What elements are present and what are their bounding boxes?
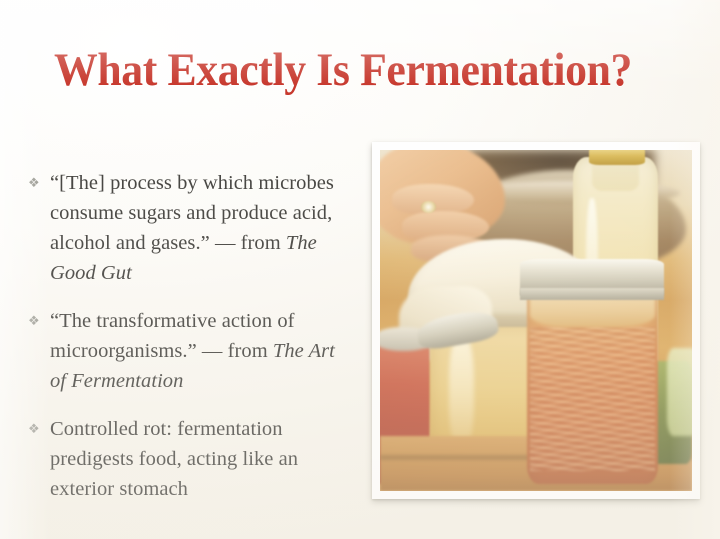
list-item: ❖ “[The] process by which microbes consu…: [24, 168, 356, 288]
diamond-bullet-icon: ❖: [24, 168, 50, 198]
bullet-text: “The transformative action of microorgan…: [50, 306, 356, 396]
bullet-text: “[The] process by which microbes consume…: [50, 168, 356, 288]
photo-frame: [372, 142, 700, 499]
bullet-list: ❖ “[The] process by which microbes consu…: [24, 168, 356, 504]
diamond-bullet-icon: ❖: [24, 414, 50, 444]
list-item: ❖ Controlled rot: fermentation predigest…: [24, 414, 356, 504]
bullet-segment-text: Controlled rot: fermentation predigests …: [50, 418, 298, 500]
bullet-text: Controlled rot: fermentation predigests …: [50, 414, 356, 504]
photo-soft-glow: [380, 150, 692, 491]
diamond-bullet-icon: ❖: [24, 306, 50, 336]
page-title: What Exactly Is Fermentation?: [54, 44, 631, 96]
fermentation-jars-photo: [380, 150, 692, 491]
presentation-slide: What Exactly Is Fermentation? ❖ “[The] p…: [0, 0, 720, 539]
bullet-segment-text: “The transformative action of microorgan…: [50, 310, 295, 362]
list-item: ❖ “The transformative action of microorg…: [24, 306, 356, 396]
